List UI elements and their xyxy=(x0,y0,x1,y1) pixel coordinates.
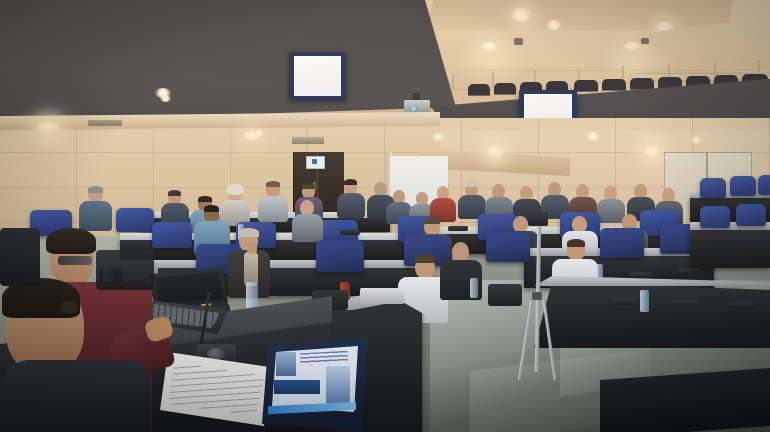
balcony-seat xyxy=(630,78,654,89)
chair[interactable] xyxy=(152,222,192,248)
attendee-hair xyxy=(226,184,244,195)
chair[interactable] xyxy=(730,176,756,196)
slide-banner xyxy=(274,380,320,394)
attendee-torso xyxy=(258,196,288,222)
light-glow xyxy=(22,108,76,148)
presenter-torso xyxy=(0,360,150,432)
desk-front-right xyxy=(534,282,770,348)
foreground-bench xyxy=(600,368,770,432)
railing-post xyxy=(452,74,454,90)
slide-heading-text xyxy=(300,351,349,365)
attendee-torso xyxy=(337,193,365,218)
desk-microphone xyxy=(678,268,700,274)
chair[interactable] xyxy=(736,204,766,226)
side-bench-desk-lower xyxy=(690,228,770,268)
ceiling-downlight xyxy=(432,133,444,141)
ceiling-speaker xyxy=(641,38,649,44)
chair[interactable] xyxy=(486,232,530,262)
desk-microphone xyxy=(612,298,636,305)
desk-microphone xyxy=(728,302,754,309)
equipment-case xyxy=(96,250,154,290)
camera-head xyxy=(528,212,548,226)
attendee-hair xyxy=(204,205,219,212)
attendee-hair xyxy=(415,254,435,263)
chair[interactable] xyxy=(700,178,726,198)
desk-microphone xyxy=(630,272,652,278)
attendee-hair xyxy=(168,190,181,196)
balcony-seat xyxy=(468,84,490,95)
balcony-seat xyxy=(494,83,516,94)
ceiling-downlight xyxy=(160,95,171,102)
attendee-hair xyxy=(567,239,585,247)
attendee-hair xyxy=(344,179,357,185)
projector-lens xyxy=(409,106,418,111)
left-wall-screen-surface xyxy=(294,56,341,96)
balcony-seat xyxy=(574,80,598,91)
chair[interactable] xyxy=(116,208,154,232)
ceiling-downlight xyxy=(546,20,562,30)
slide-image-right xyxy=(326,366,350,406)
eyeglasses xyxy=(58,256,92,265)
door-sign-icon xyxy=(312,159,317,164)
attendee-hair xyxy=(424,217,440,224)
attendee-hair xyxy=(198,196,212,202)
attendee-hair xyxy=(302,183,315,189)
chair[interactable] xyxy=(758,175,770,195)
ceiling-downlight xyxy=(690,136,703,144)
paper-sheet xyxy=(360,288,404,304)
camera-bag xyxy=(488,284,522,306)
ceiling-speaker xyxy=(514,38,523,45)
wall-vent xyxy=(88,120,122,126)
desk-microphone xyxy=(448,226,468,231)
attendee-hair xyxy=(88,186,103,193)
attendee-hair xyxy=(266,181,280,187)
attendee-torso xyxy=(292,214,323,242)
attendee-shirt xyxy=(244,252,258,286)
water-bottle xyxy=(470,278,478,298)
presenter-ear xyxy=(60,300,78,314)
ceiling-downlight xyxy=(254,130,264,136)
laptop-screen[interactable] xyxy=(155,272,223,303)
attendee-torso xyxy=(79,201,112,231)
balcony-seat xyxy=(602,79,626,90)
auditorium-photograph: Lecture hall conference session xyxy=(0,0,770,432)
chair[interactable] xyxy=(316,240,364,272)
equipment-case xyxy=(0,228,40,286)
desk-microphone xyxy=(672,300,698,307)
slide-image-left xyxy=(276,352,296,376)
attendee-hand xyxy=(247,242,257,254)
ceiling-downlight xyxy=(586,132,600,141)
attendee-hair xyxy=(238,228,259,237)
chair[interactable] xyxy=(600,228,644,258)
light-glow xyxy=(472,136,518,168)
attendee-hair xyxy=(465,181,478,187)
presenter-hair xyxy=(46,228,96,254)
left-wall-screen xyxy=(289,52,346,100)
water-bottle xyxy=(640,290,649,312)
tripod-hub xyxy=(532,292,542,300)
desk-microphone xyxy=(340,230,360,235)
wall-vent xyxy=(292,137,324,144)
attendee-torso xyxy=(597,199,625,223)
chair[interactable] xyxy=(700,206,730,228)
attendee-head xyxy=(452,242,469,262)
